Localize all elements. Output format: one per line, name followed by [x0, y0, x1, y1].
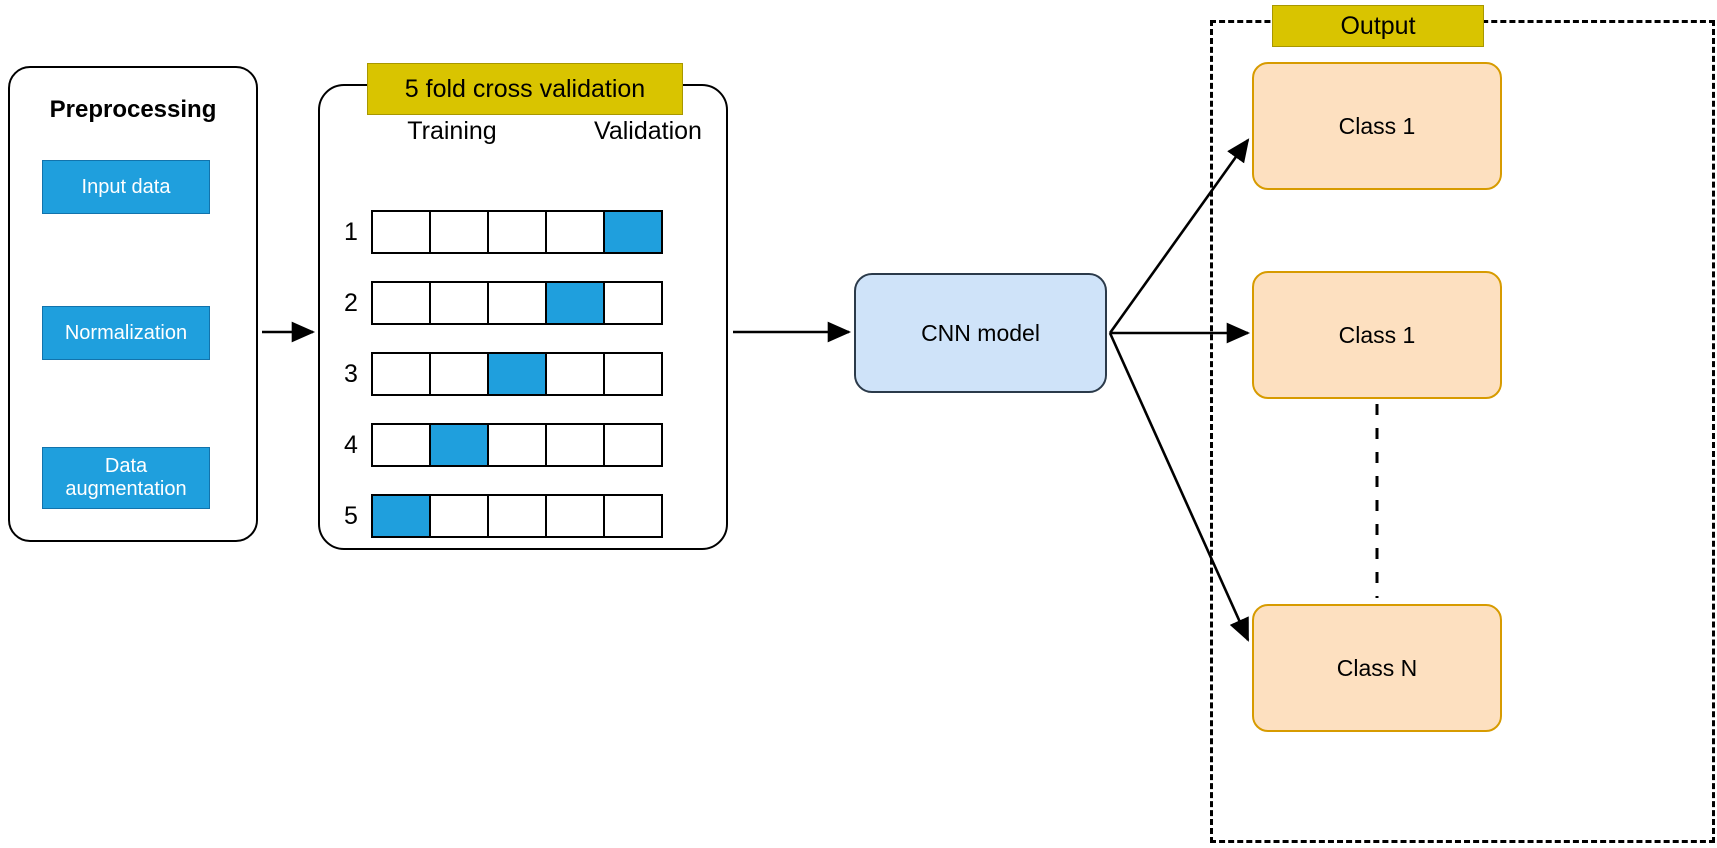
fold-5-cell-4-training[interactable]	[545, 494, 605, 538]
fold-index-2: 2	[339, 281, 363, 325]
fold-5-cell-2-training[interactable]	[429, 494, 489, 538]
fold-index-1: 1	[339, 210, 363, 254]
cross-validation-title-label: 5 fold cross validation	[367, 63, 683, 115]
fold-3-cell-3-validation[interactable]	[487, 352, 547, 396]
cnn-model-box[interactable]: CNN model	[854, 273, 1107, 393]
output-title-label: Output	[1272, 5, 1484, 47]
fold-index-3: 3	[339, 352, 363, 396]
fold-5-cell-3-training[interactable]	[487, 494, 547, 538]
class-box-1[interactable]: Class 1	[1252, 62, 1502, 190]
fold-1-cell-2-training[interactable]	[429, 210, 489, 254]
fold-index-5: 5	[339, 494, 363, 538]
fold-row-1	[371, 210, 661, 254]
fold-5-cell-1-validation[interactable]	[371, 494, 431, 538]
fold-5-cell-5-training[interactable]	[603, 494, 663, 538]
data-augmentation-box[interactable]: Data augmentation	[42, 447, 210, 509]
fold-3-cell-2-training[interactable]	[429, 352, 489, 396]
fold-4-cell-1-training[interactable]	[371, 423, 431, 467]
fold-index-4: 4	[339, 423, 363, 467]
fold-row-4	[371, 423, 661, 467]
input-data-box[interactable]: Input data	[42, 160, 210, 214]
fold-4-cell-2-validation[interactable]	[429, 423, 489, 467]
fold-row-2	[371, 281, 661, 325]
fold-2-cell-5-training[interactable]	[603, 281, 663, 325]
fold-3-cell-4-training[interactable]	[545, 352, 605, 396]
fold-4-cell-5-training[interactable]	[603, 423, 663, 467]
fold-1-cell-5-validation[interactable]	[603, 210, 663, 254]
fold-3-cell-5-training[interactable]	[603, 352, 663, 396]
fold-2-cell-2-training[interactable]	[429, 281, 489, 325]
fold-2-cell-4-validation[interactable]	[545, 281, 605, 325]
fold-4-cell-4-training[interactable]	[545, 423, 605, 467]
fold-2-cell-1-training[interactable]	[371, 281, 431, 325]
fold-row-3	[371, 352, 661, 396]
fold-4-cell-3-training[interactable]	[487, 423, 547, 467]
normalization-box[interactable]: Normalization	[42, 306, 210, 360]
fold-row-5	[371, 494, 661, 538]
training-label: Training	[372, 114, 532, 148]
fold-1-cell-3-training[interactable]	[487, 210, 547, 254]
class-box-2[interactable]: Class 1	[1252, 271, 1502, 399]
fold-2-cell-3-training[interactable]	[487, 281, 547, 325]
diagram-canvas: Preprocessing Input data Normalization D…	[0, 0, 1717, 848]
preprocessing-title: Preprocessing	[8, 93, 258, 127]
class-box-n[interactable]: Class N	[1252, 604, 1502, 732]
validation-label: Validation	[578, 114, 718, 148]
fold-3-cell-1-training[interactable]	[371, 352, 431, 396]
fold-1-cell-1-training[interactable]	[371, 210, 431, 254]
fold-1-cell-4-training[interactable]	[545, 210, 605, 254]
